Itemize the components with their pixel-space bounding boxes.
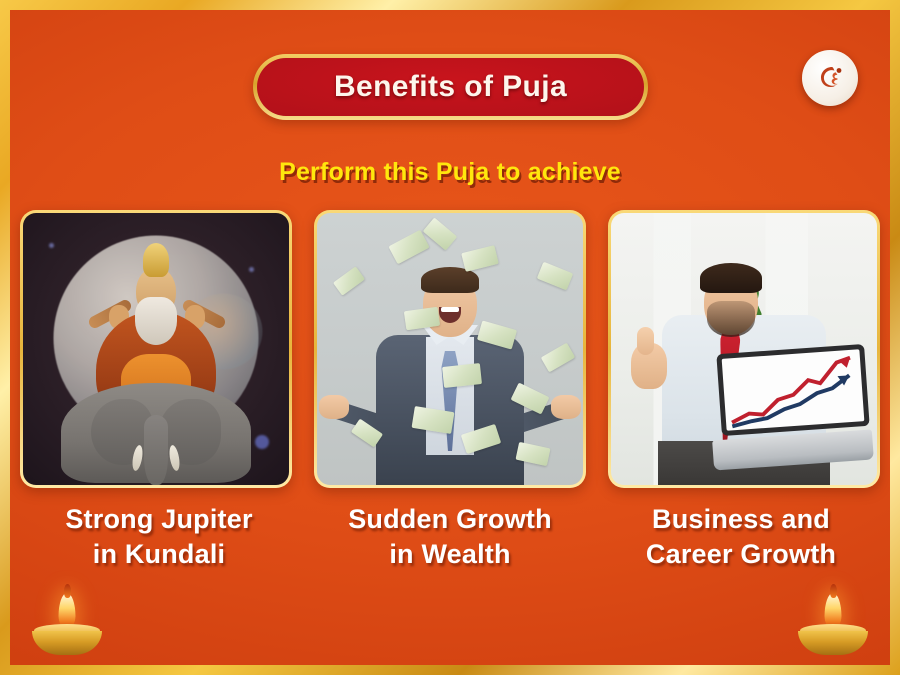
diya-bowl bbox=[32, 631, 102, 655]
benefit-card-3 bbox=[608, 210, 880, 488]
businessman-thumbs-up-laptop-image bbox=[611, 213, 877, 485]
benefit-card-2 bbox=[314, 210, 586, 488]
benefit-caption-1-line1: Strong Jupiter bbox=[20, 502, 298, 537]
money-bill bbox=[442, 363, 482, 388]
page-title: Benefits of Puja bbox=[334, 70, 567, 104]
star-dot bbox=[249, 267, 254, 272]
diya-bowl bbox=[798, 631, 868, 655]
man-beard bbox=[707, 301, 755, 337]
money-bill bbox=[541, 343, 575, 373]
money-bill bbox=[461, 245, 499, 272]
benefit-card-1 bbox=[20, 210, 292, 488]
man-palm-right bbox=[551, 395, 581, 419]
brihaspati-on-elephant-image bbox=[23, 213, 289, 485]
laptop-screen bbox=[716, 344, 869, 436]
title-pill: Benefits of Puja bbox=[253, 54, 648, 120]
benefit-captions: Strong Jupiter in Kundali Sudden Growth … bbox=[20, 502, 880, 571]
benefit-caption-3: Business and Career Growth bbox=[602, 502, 880, 571]
diya-lamp-icon-left bbox=[32, 597, 102, 659]
man-hair bbox=[700, 263, 762, 293]
thumbs-up-icon bbox=[631, 343, 667, 389]
growth-chart-image bbox=[722, 349, 865, 430]
poster-subtitle: Perform this Puja to achieve bbox=[10, 158, 890, 187]
man-with-falling-money-image bbox=[317, 213, 583, 485]
benefit-caption-3-line2: Career Growth bbox=[602, 537, 880, 572]
laptop-keyboard-base bbox=[712, 429, 874, 470]
money-bill bbox=[333, 266, 365, 295]
deity-beard bbox=[135, 297, 177, 345]
laptop bbox=[713, 349, 873, 465]
star-dot bbox=[49, 243, 54, 248]
title-pill-inner: Benefits of Puja bbox=[257, 58, 644, 116]
money-bill bbox=[388, 230, 429, 265]
benefits-image-grid bbox=[20, 210, 880, 494]
benefit-caption-2: Sudden Growth in Wealth bbox=[311, 502, 589, 571]
benefit-caption-1-line2: in Kundali bbox=[20, 537, 298, 572]
man-hair bbox=[421, 267, 479, 293]
benefit-caption-2-line2: in Wealth bbox=[311, 537, 589, 572]
money-bill bbox=[537, 262, 573, 291]
benefit-caption-2-line1: Sudden Growth bbox=[311, 502, 589, 537]
elephant-trunk bbox=[144, 415, 168, 485]
diya-lamp-icon-right bbox=[798, 597, 868, 659]
benefit-caption-3-line1: Business and bbox=[602, 502, 880, 537]
deity-crown bbox=[143, 243, 169, 277]
poster-frame: Benefits of Puja Perform this Puja to ac… bbox=[0, 0, 900, 675]
star-dot bbox=[255, 435, 269, 449]
elephant-body bbox=[61, 383, 251, 483]
benefit-caption-1: Strong Jupiter in Kundali bbox=[20, 502, 298, 571]
elephant-ear-right bbox=[159, 399, 221, 465]
om-flame-logo-icon bbox=[802, 50, 858, 106]
man-palm-left bbox=[319, 395, 349, 419]
poster-inner: Benefits of Puja Perform this Puja to ac… bbox=[10, 10, 890, 665]
